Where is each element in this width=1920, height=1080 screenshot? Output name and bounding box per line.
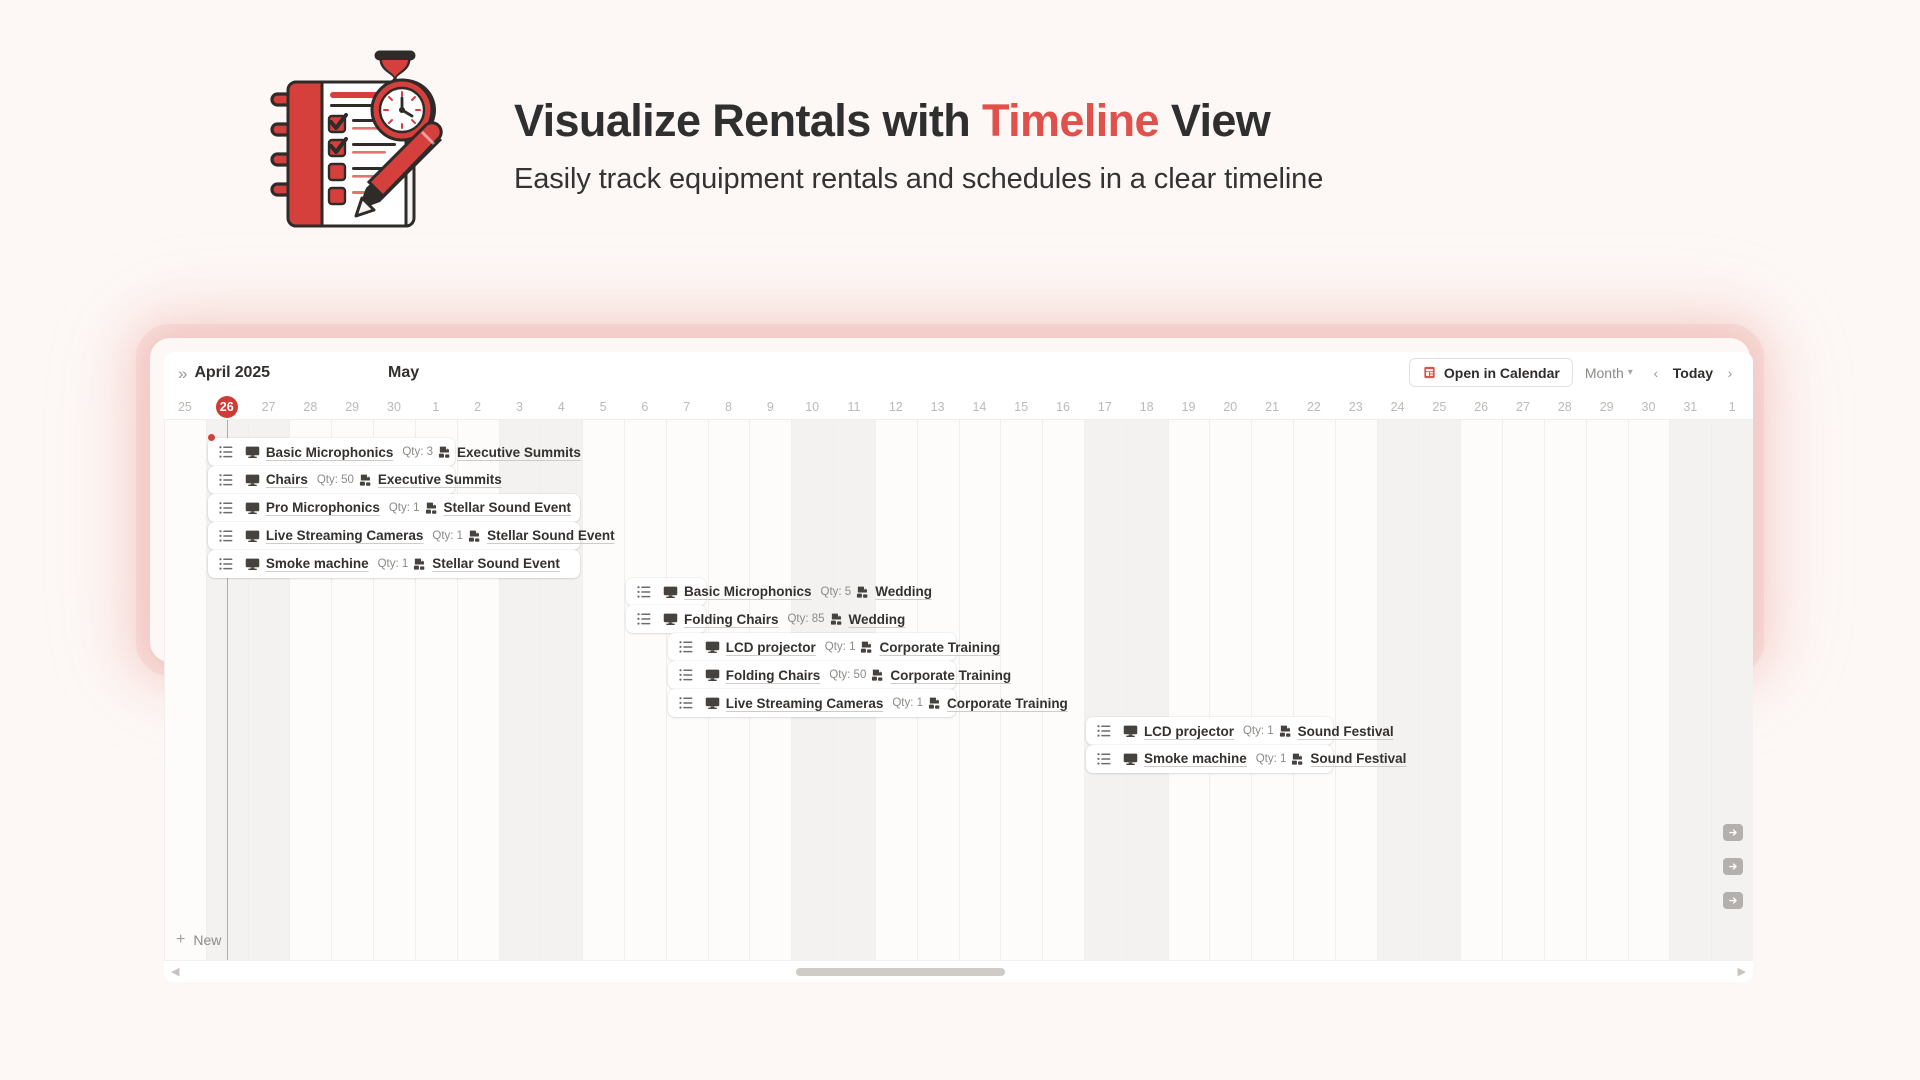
page-subtitle: Easily track equipment rentals and sched… bbox=[514, 163, 1323, 196]
bar-item-name[interactable]: Folding Chairs bbox=[726, 668, 821, 683]
timeline-navigation: ‹ Today › bbox=[1645, 360, 1741, 386]
timeline-bar[interactable]: LCD projectorQty: 1Corporate Training bbox=[668, 633, 957, 661]
bar-item-name[interactable]: LCD projector bbox=[726, 640, 816, 655]
timeline-bar-content: LCD projectorQty: 1Sound Festival bbox=[1097, 724, 1394, 739]
bar-project-name[interactable]: Sound Festival bbox=[1310, 751, 1406, 766]
monitor-icon bbox=[245, 501, 260, 515]
list-icon[interactable] bbox=[679, 640, 693, 654]
day-cell-10[interactable]: 10 bbox=[791, 394, 833, 420]
column-gridline bbox=[164, 420, 165, 960]
column-gridline bbox=[1586, 420, 1587, 960]
list-icon[interactable] bbox=[679, 668, 693, 682]
day-cell-23[interactable]: 23 bbox=[1335, 394, 1377, 420]
timeline-bar[interactable]: ChairsQty: 50Executive Summits bbox=[208, 466, 455, 494]
project-icon bbox=[468, 529, 481, 543]
timeline-bar-content: Basic MicrophonicsQty: 3Executive Summit… bbox=[219, 445, 581, 460]
column-gridline bbox=[1000, 420, 1001, 960]
column-gridline bbox=[959, 420, 960, 960]
column-gridline bbox=[666, 420, 667, 960]
day-cell-9[interactable]: 9 bbox=[749, 394, 791, 420]
arrow-right-icon[interactable] bbox=[1723, 858, 1743, 875]
bar-project-name[interactable]: Executive Summits bbox=[457, 445, 581, 460]
day-cell-4[interactable]: 4 bbox=[540, 394, 582, 420]
chevron-right-icon[interactable]: › bbox=[1719, 360, 1741, 386]
monitor-icon bbox=[1123, 752, 1138, 766]
calendar-icon bbox=[1422, 365, 1437, 380]
column-gridline bbox=[1460, 420, 1461, 960]
arrow-right-icon[interactable] bbox=[1723, 824, 1743, 841]
bar-project-name[interactable]: Corporate Training bbox=[947, 696, 1068, 711]
timeline-bar[interactable]: Folding ChairsQty: 50Corporate Training bbox=[668, 661, 957, 689]
open-in-calendar-label: Open in Calendar bbox=[1444, 365, 1560, 381]
timeline-bar[interactable]: Pro MicrophonicsQty: 1Stellar Sound Even… bbox=[208, 494, 580, 522]
bar-project-name[interactable]: Wedding bbox=[875, 584, 932, 599]
day-cell-2[interactable]: 2 bbox=[457, 394, 499, 420]
bar-quantity: Qty: 1 bbox=[1256, 753, 1287, 765]
page-title-part2: View bbox=[1159, 95, 1270, 146]
list-icon[interactable] bbox=[637, 585, 651, 599]
timeline-bar-content: Pro MicrophonicsQty: 1Stellar Sound Even… bbox=[219, 500, 571, 515]
page-title: Visualize Rentals with Timeline View bbox=[514, 96, 1323, 146]
bar-project-name[interactable]: Stellar Sound Event bbox=[444, 500, 572, 515]
bar-project-name[interactable]: Stellar Sound Event bbox=[487, 528, 615, 543]
bar-project-name[interactable]: Corporate Training bbox=[890, 668, 1011, 683]
list-icon[interactable] bbox=[219, 473, 233, 487]
bar-project-name[interactable]: Corporate Training bbox=[879, 640, 1000, 655]
column-gridline bbox=[1084, 420, 1085, 960]
list-icon[interactable] bbox=[1097, 752, 1111, 766]
bar-project-name[interactable]: Sound Festival bbox=[1298, 724, 1394, 739]
list-icon[interactable] bbox=[637, 612, 651, 626]
bar-quantity: Qty: 85 bbox=[787, 613, 824, 625]
bar-quantity: Qty: 1 bbox=[892, 697, 923, 709]
plus-icon: + bbox=[176, 932, 185, 948]
day-cell-24[interactable]: 24 bbox=[1377, 394, 1419, 420]
day-cell-27[interactable]: 27 bbox=[1502, 394, 1544, 420]
column-gridline bbox=[1544, 420, 1545, 960]
bar-quantity: Qty: 1 bbox=[378, 558, 409, 570]
bar-item-name[interactable]: LCD projector bbox=[1144, 724, 1234, 739]
bar-project-name[interactable]: Stellar Sound Event bbox=[432, 556, 560, 571]
timeline-bar-content: Smoke machineQty: 1Stellar Sound Event bbox=[219, 556, 560, 571]
hero-text-block: Visualize Rentals with Timeline View Eas… bbox=[514, 96, 1323, 196]
day-cell-28[interactable]: 28 bbox=[1544, 394, 1586, 420]
bar-item-name[interactable]: Chairs bbox=[266, 472, 308, 487]
project-icon bbox=[871, 668, 884, 682]
day-cell-13[interactable]: 13 bbox=[917, 394, 959, 420]
timeline-bar-content: Smoke machineQty: 1Sound Festival bbox=[1097, 751, 1407, 766]
new-item-label: New bbox=[193, 932, 221, 948]
column-gridline bbox=[1711, 420, 1712, 960]
column-gridline bbox=[624, 420, 625, 960]
project-icon bbox=[928, 696, 941, 710]
monitor-icon bbox=[663, 585, 678, 599]
bar-item-name[interactable]: Live Streaming Cameras bbox=[266, 528, 424, 543]
list-icon[interactable] bbox=[219, 501, 233, 515]
timeline-bar[interactable]: Basic MicrophonicsQty: 5Wedding bbox=[626, 578, 706, 606]
timeline-bar[interactable]: Smoke machineQty: 1Stellar Sound Event bbox=[208, 550, 580, 578]
day-cell-22[interactable]: 22 bbox=[1293, 394, 1335, 420]
arrow-right-icon[interactable] bbox=[1723, 892, 1743, 909]
day-cell-7[interactable]: 7 bbox=[666, 394, 708, 420]
project-icon bbox=[438, 445, 451, 459]
double-chevron-right-icon[interactable]: » bbox=[178, 365, 185, 382]
chevron-left-icon[interactable]: ‹ bbox=[1645, 360, 1667, 386]
day-cell-17[interactable]: 17 bbox=[1084, 394, 1126, 420]
day-cell-15[interactable]: 15 bbox=[1000, 394, 1042, 420]
timeline-bar-content: ChairsQty: 50Executive Summits bbox=[219, 472, 502, 487]
project-icon bbox=[860, 640, 873, 654]
day-cell-5[interactable]: 5 bbox=[582, 394, 624, 420]
day-cell-3[interactable]: 3 bbox=[499, 394, 541, 420]
monitor-icon bbox=[245, 445, 260, 459]
column-gridline bbox=[1126, 420, 1127, 960]
timeline-bar[interactable]: LCD projectorQty: 1Sound Festival bbox=[1086, 717, 1333, 745]
day-cell-16[interactable]: 16 bbox=[1042, 394, 1084, 420]
column-gridline bbox=[206, 420, 207, 960]
monitor-icon bbox=[245, 529, 260, 543]
notepad-checklist-hourglass-clock-pen-illustration bbox=[262, 36, 448, 232]
day-cell-25[interactable]: 25 bbox=[164, 394, 206, 420]
scrollbar-thumb[interactable] bbox=[796, 968, 1004, 976]
project-icon bbox=[830, 612, 843, 626]
day-cell-8[interactable]: 8 bbox=[708, 394, 750, 420]
bar-item-name[interactable]: Live Streaming Cameras bbox=[726, 696, 884, 711]
day-cell-30[interactable]: 30 bbox=[373, 394, 415, 420]
column-gridline bbox=[1209, 420, 1210, 960]
bar-quantity: Qty: 1 bbox=[432, 530, 463, 542]
day-cell-25[interactable]: 25 bbox=[1418, 394, 1460, 420]
column-gridline bbox=[1628, 420, 1629, 960]
bar-item-name[interactable]: Basic Microphonics bbox=[266, 445, 394, 460]
day-cell-28[interactable]: 28 bbox=[289, 394, 331, 420]
bar-quantity: Qty: 5 bbox=[821, 586, 852, 598]
page-title-part1: Visualize Rentals with bbox=[514, 95, 982, 146]
bar-item-name[interactable]: Pro Microphonics bbox=[266, 500, 380, 515]
column-gridline bbox=[1502, 420, 1503, 960]
timeline-month-label-secondary: May bbox=[388, 364, 419, 382]
day-cell-30[interactable]: 30 bbox=[1628, 394, 1670, 420]
list-icon[interactable] bbox=[219, 445, 233, 459]
bar-start-dot bbox=[208, 434, 215, 441]
column-gridline bbox=[582, 420, 583, 960]
monitor-icon bbox=[663, 612, 678, 626]
monitor-icon bbox=[705, 696, 720, 710]
today-pip: 26 bbox=[216, 396, 238, 418]
page-title-accent: Timeline bbox=[982, 95, 1159, 146]
monitor-icon bbox=[245, 557, 260, 571]
timeline-zoom-value: Month bbox=[1585, 365, 1624, 381]
bar-item-name[interactable]: Smoke machine bbox=[266, 556, 369, 571]
list-icon[interactable] bbox=[219, 529, 233, 543]
bar-item-name[interactable]: Basic Microphonics bbox=[684, 584, 812, 599]
bar-project-name[interactable]: Executive Summits bbox=[378, 472, 502, 487]
timeline-day-header: 2526272829301234567891011121314151617181… bbox=[164, 394, 1753, 420]
column-gridline bbox=[1168, 420, 1169, 960]
timeline-bar-content: Live Streaming CamerasQty: 1Corporate Tr… bbox=[679, 696, 1068, 711]
timeline-bar[interactable]: Folding ChairsQty: 85Wedding bbox=[626, 605, 706, 633]
timeline-grid[interactable]: Basic MicrophonicsQty: 3Executive Summit… bbox=[164, 420, 1753, 960]
timeline-panel: » April 2025 May Open in Calendar Mo bbox=[164, 352, 1753, 982]
timeline-bar[interactable]: Smoke machineQty: 1Sound Festival bbox=[1086, 745, 1333, 773]
list-icon[interactable] bbox=[219, 557, 233, 571]
timeline-bar-content: Basic MicrophonicsQty: 5Wedding bbox=[637, 584, 932, 599]
today-button[interactable]: Today bbox=[1669, 365, 1717, 381]
timeline-bar-content: LCD projectorQty: 1Corporate Training bbox=[679, 640, 1000, 655]
day-cell-26[interactable]: 26 bbox=[1460, 394, 1502, 420]
bar-quantity: Qty: 3 bbox=[402, 446, 433, 458]
project-icon bbox=[1291, 752, 1304, 766]
day-cell-29[interactable]: 29 bbox=[1586, 394, 1628, 420]
bar-quantity: Qty: 1 bbox=[1243, 725, 1274, 737]
timeline-month-label: April 2025 bbox=[194, 364, 270, 382]
triangle-left-icon[interactable]: ◀ bbox=[164, 965, 186, 978]
day-cell-31[interactable]: 31 bbox=[1669, 394, 1711, 420]
column-gridline bbox=[1293, 420, 1294, 960]
day-cell-18[interactable]: 18 bbox=[1126, 394, 1168, 420]
bar-quantity: Qty: 1 bbox=[389, 502, 420, 514]
bar-item-name[interactable]: Folding Chairs bbox=[684, 612, 779, 627]
project-icon bbox=[425, 501, 438, 515]
bar-project-name[interactable]: Wedding bbox=[849, 612, 906, 627]
project-icon bbox=[856, 585, 869, 599]
day-cell-6[interactable]: 6 bbox=[624, 394, 666, 420]
timeline-toolbar: » April 2025 May Open in Calendar Mo bbox=[164, 352, 1753, 394]
list-icon[interactable] bbox=[679, 696, 693, 710]
day-cell-29[interactable]: 29 bbox=[331, 394, 373, 420]
monitor-icon bbox=[1123, 724, 1138, 738]
bar-quantity: Qty: 50 bbox=[829, 669, 866, 681]
day-cell-11[interactable]: 11 bbox=[833, 394, 875, 420]
day-cell-14[interactable]: 14 bbox=[959, 394, 1001, 420]
scrollbar-track[interactable] bbox=[186, 961, 1730, 983]
column-gridline bbox=[1418, 420, 1419, 960]
chevron-down-icon: ▾ bbox=[1628, 367, 1633, 378]
timeline-bar[interactable]: Live Streaming CamerasQty: 1Corporate Tr… bbox=[668, 689, 957, 717]
column-gridline bbox=[1377, 420, 1378, 960]
project-icon bbox=[359, 473, 372, 487]
project-icon bbox=[1279, 724, 1292, 738]
new-item-button[interactable]: + New bbox=[176, 932, 221, 948]
timeline-bar-content: Folding ChairsQty: 85Wedding bbox=[637, 612, 905, 627]
timeline-zoom-select[interactable]: Month ▾ bbox=[1579, 358, 1639, 387]
day-cell-1[interactable]: 1 bbox=[1711, 394, 1753, 420]
day-cell-12[interactable]: 12 bbox=[875, 394, 917, 420]
hero-section: Visualize Rentals with Timeline View Eas… bbox=[0, 0, 1920, 300]
day-cell-26[interactable]: 26 bbox=[206, 394, 248, 420]
bar-item-name[interactable]: Smoke machine bbox=[1144, 751, 1247, 766]
list-icon[interactable] bbox=[1097, 724, 1111, 738]
timeline-bar-content: Live Streaming CamerasQty: 1Stellar Soun… bbox=[219, 528, 615, 543]
timeline-bar[interactable]: Basic MicrophonicsQty: 3Executive Summit… bbox=[208, 438, 455, 466]
column-gridline bbox=[1042, 420, 1043, 960]
column-gridline bbox=[1335, 420, 1336, 960]
timeline-bar[interactable]: Live Streaming CamerasQty: 1Stellar Soun… bbox=[208, 522, 580, 550]
monitor-icon bbox=[705, 668, 720, 682]
day-cell-20[interactable]: 20 bbox=[1209, 394, 1251, 420]
bar-quantity: Qty: 1 bbox=[825, 641, 856, 653]
column-gridline bbox=[1251, 420, 1252, 960]
triangle-right-icon[interactable]: ▶ bbox=[1731, 965, 1753, 978]
day-cell-1[interactable]: 1 bbox=[415, 394, 457, 420]
bar-quantity: Qty: 50 bbox=[317, 474, 354, 486]
monitor-icon bbox=[245, 473, 260, 487]
day-cell-21[interactable]: 21 bbox=[1251, 394, 1293, 420]
day-cell-27[interactable]: 27 bbox=[248, 394, 290, 420]
column-gridline bbox=[1669, 420, 1670, 960]
monitor-icon bbox=[705, 640, 720, 654]
open-in-calendar-button[interactable]: Open in Calendar bbox=[1409, 358, 1573, 387]
horizontal-scrollbar[interactable]: ◀ ▶ bbox=[164, 960, 1753, 982]
project-icon bbox=[413, 557, 426, 571]
day-cell-19[interactable]: 19 bbox=[1168, 394, 1210, 420]
timeline-bar-content: Folding ChairsQty: 50Corporate Training bbox=[679, 668, 1011, 683]
